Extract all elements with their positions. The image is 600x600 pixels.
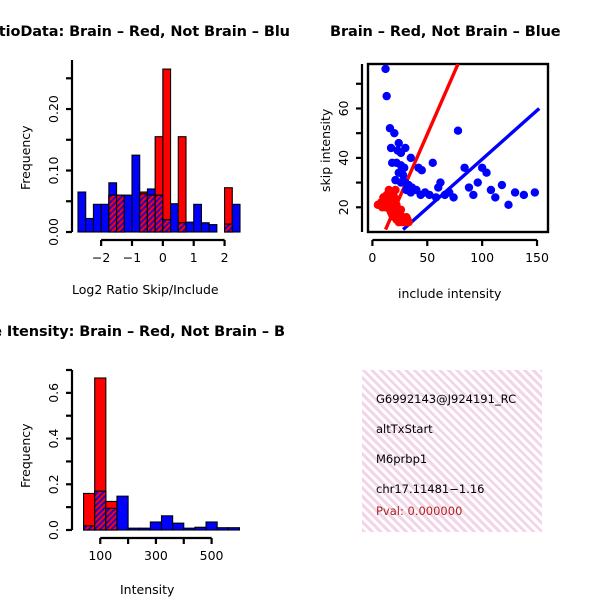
panel-intensity-histogram: ne Itensity: Brain – Red, Not Brain – B … bbox=[0, 300, 300, 600]
svg-text:0.0: 0.0 bbox=[46, 520, 61, 540]
svg-text:2: 2 bbox=[221, 250, 229, 265]
svg-text:100: 100 bbox=[470, 250, 494, 265]
info-event-type: altTxStart bbox=[376, 422, 433, 436]
intensity-hist-plot: 0.00.20.40.6100300500 bbox=[0, 300, 300, 600]
svg-text:50: 50 bbox=[419, 250, 435, 265]
svg-text:0.20: 0.20 bbox=[46, 95, 61, 123]
svg-text:0.4: 0.4 bbox=[46, 429, 61, 449]
svg-text:0: 0 bbox=[159, 250, 167, 265]
probe-info-box: G6992143@J924191_RC altTxStart M6prbp1 c… bbox=[362, 370, 542, 532]
svg-text:40: 40 bbox=[336, 150, 351, 166]
svg-text:0.6: 0.6 bbox=[46, 383, 61, 403]
panel-ratio-histogram: RatioData: Brain – Red, Not Brain – Blu … bbox=[0, 0, 300, 300]
svg-text:0: 0 bbox=[368, 250, 376, 265]
figure-canvas: RatioData: Brain – Red, Not Brain – Blu … bbox=[0, 0, 600, 600]
svg-text:60: 60 bbox=[336, 100, 351, 116]
scatter-plot: 204060050100150 bbox=[300, 0, 600, 300]
svg-text:1: 1 bbox=[190, 250, 198, 265]
info-gene: M6prbp1 bbox=[376, 452, 427, 466]
svg-text:500: 500 bbox=[200, 548, 224, 563]
svg-text:100: 100 bbox=[88, 548, 112, 563]
ratio-hist-plot: 0.000.100.20−2−1012 bbox=[0, 0, 300, 300]
svg-text:−1: −1 bbox=[123, 250, 141, 265]
panel-info: G6992143@J924191_RC altTxStart M6prbp1 c… bbox=[300, 300, 600, 600]
svg-text:0.10: 0.10 bbox=[46, 157, 61, 185]
info-pval: Pval: 0.000000 bbox=[376, 504, 462, 518]
panel-scatter: Brain – Red, Not Brain – Blue skip inten… bbox=[300, 0, 600, 300]
info-probe-id: G6992143@J924191_RC bbox=[376, 392, 516, 406]
svg-text:0.2: 0.2 bbox=[46, 474, 61, 494]
svg-text:0.00: 0.00 bbox=[46, 218, 61, 246]
svg-text:300: 300 bbox=[144, 548, 168, 563]
info-locus: chr17.11481−1.16 bbox=[376, 482, 484, 496]
svg-text:150: 150 bbox=[525, 250, 549, 265]
svg-text:20: 20 bbox=[336, 199, 351, 215]
svg-text:−2: −2 bbox=[92, 250, 110, 265]
